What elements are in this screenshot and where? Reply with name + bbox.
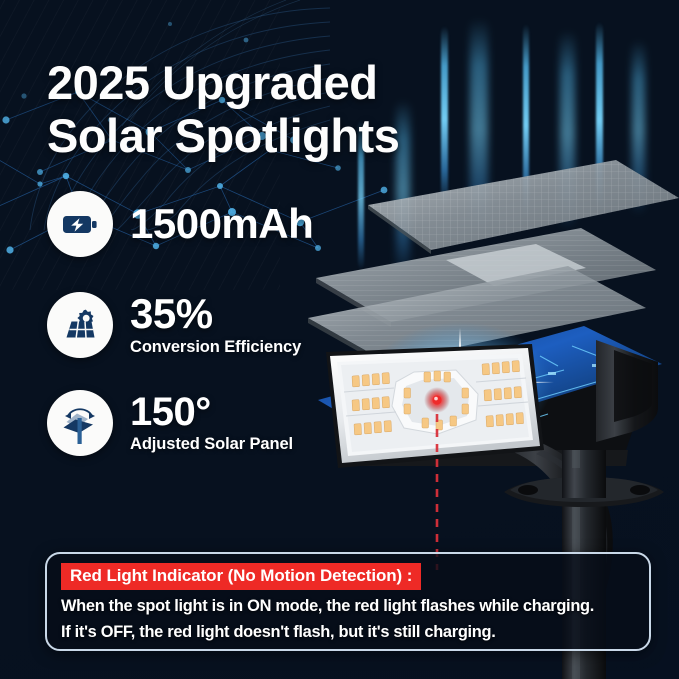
battery-charging-icon (58, 202, 102, 246)
feature-value: 1500mAh (130, 203, 313, 245)
red-indicator-led (424, 387, 450, 413)
feature-text: 150° Adjusted Solar Panel (130, 392, 293, 454)
solar-panel-sun-icon (58, 303, 102, 347)
feature-text: 35% Conversion Efficiency (130, 293, 301, 357)
feature-value: 35% (130, 293, 301, 335)
feature-sublabel: Conversion Efficiency (130, 338, 301, 357)
callout-title-badge: Red Light Indicator (No Motion Detection… (61, 563, 421, 590)
callout-line-2: If it's OFF, the red light doesn't flash… (61, 623, 635, 642)
feature-battery-capacity: 1500mAh (47, 191, 313, 257)
product-infographic: 2025 Upgraded Solar Spotlights 1500mAh (0, 0, 679, 679)
feature-icon-wrapper (47, 292, 113, 358)
page-title: 2025 Upgraded Solar Spotlights (47, 57, 517, 162)
feature-icon-wrapper (47, 390, 113, 456)
feature-conversion-efficiency: 35% Conversion Efficiency (47, 292, 301, 358)
feature-text: 1500mAh (130, 203, 313, 245)
red-light-indicator-callout: Red Light Indicator (No Motion Detection… (45, 552, 651, 651)
callout-line-1: When the spot light is in ON mode, the r… (61, 597, 635, 616)
mounting-bracket (504, 468, 664, 507)
feature-value: 150° (130, 392, 293, 432)
adjustable-panel-angle-icon (57, 400, 103, 446)
feature-adjustable-angle: 150° Adjusted Solar Panel (47, 390, 293, 456)
headline-line-2: Solar Spotlights (47, 110, 517, 163)
headline-line-1: 2025 Upgraded (47, 56, 377, 109)
feature-sublabel: Adjusted Solar Panel (130, 435, 293, 454)
feature-icon-wrapper (47, 191, 113, 257)
